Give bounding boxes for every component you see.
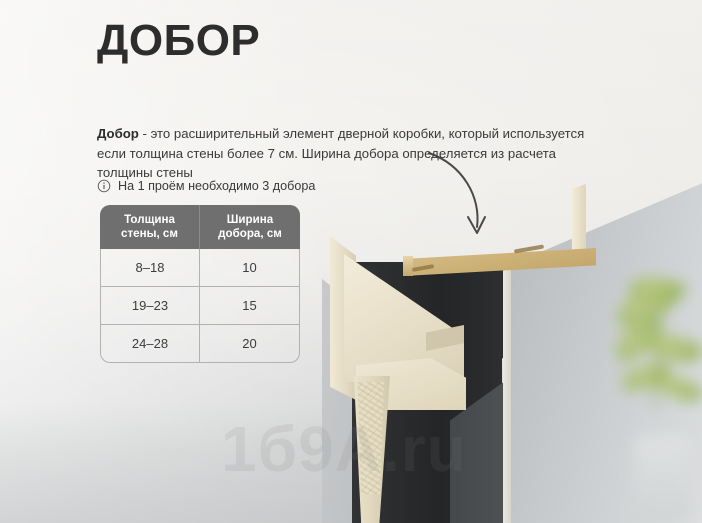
column-header-wall-thickness: Толщина стены, см bbox=[100, 205, 200, 249]
cell-dobor-width: 20 bbox=[200, 325, 300, 363]
table-row: 19–23 15 bbox=[100, 287, 300, 325]
cell-wall-thickness: 24–28 bbox=[100, 325, 200, 363]
cell-wall-thickness: 19–23 bbox=[100, 287, 200, 325]
description-rest: - это расширительный элемент дверной кор… bbox=[97, 126, 584, 180]
table-body: 8–18 10 19–23 15 24–28 20 bbox=[100, 249, 300, 363]
column-header-dobor-width: Ширина добора, см bbox=[200, 205, 300, 249]
description-paragraph: Добор - это расширительный элемент дверн… bbox=[97, 124, 613, 183]
table-row: 8–18 10 bbox=[100, 249, 300, 287]
cell-dobor-width: 15 bbox=[200, 287, 300, 325]
dobor-strip-end-cap bbox=[403, 256, 413, 276]
cell-dobor-width: 10 bbox=[200, 249, 300, 287]
decorative-plant bbox=[612, 273, 702, 523]
note-line: На 1 проём необходимо 3 добора bbox=[97, 179, 315, 193]
dobor-spec-table: Толщина стены, см Ширина добора, см 8–18… bbox=[100, 205, 300, 363]
plant-vase bbox=[634, 435, 690, 523]
description-lead: Добор bbox=[97, 126, 139, 141]
table-header-row: Толщина стены, см Ширина добора, см bbox=[100, 205, 300, 249]
table-row: 24–28 20 bbox=[100, 325, 300, 363]
page-title: ДОБОР bbox=[97, 16, 260, 66]
info-circle-icon bbox=[97, 179, 111, 193]
note-text: На 1 проём необходимо 3 добора bbox=[118, 179, 315, 193]
screenshot-canvas: 1б9А.ru ДОБОР Добор - это расширительный… bbox=[0, 0, 702, 523]
cell-wall-thickness: 8–18 bbox=[100, 249, 200, 287]
table-head: Толщина стены, см Ширина добора, см bbox=[100, 205, 300, 249]
